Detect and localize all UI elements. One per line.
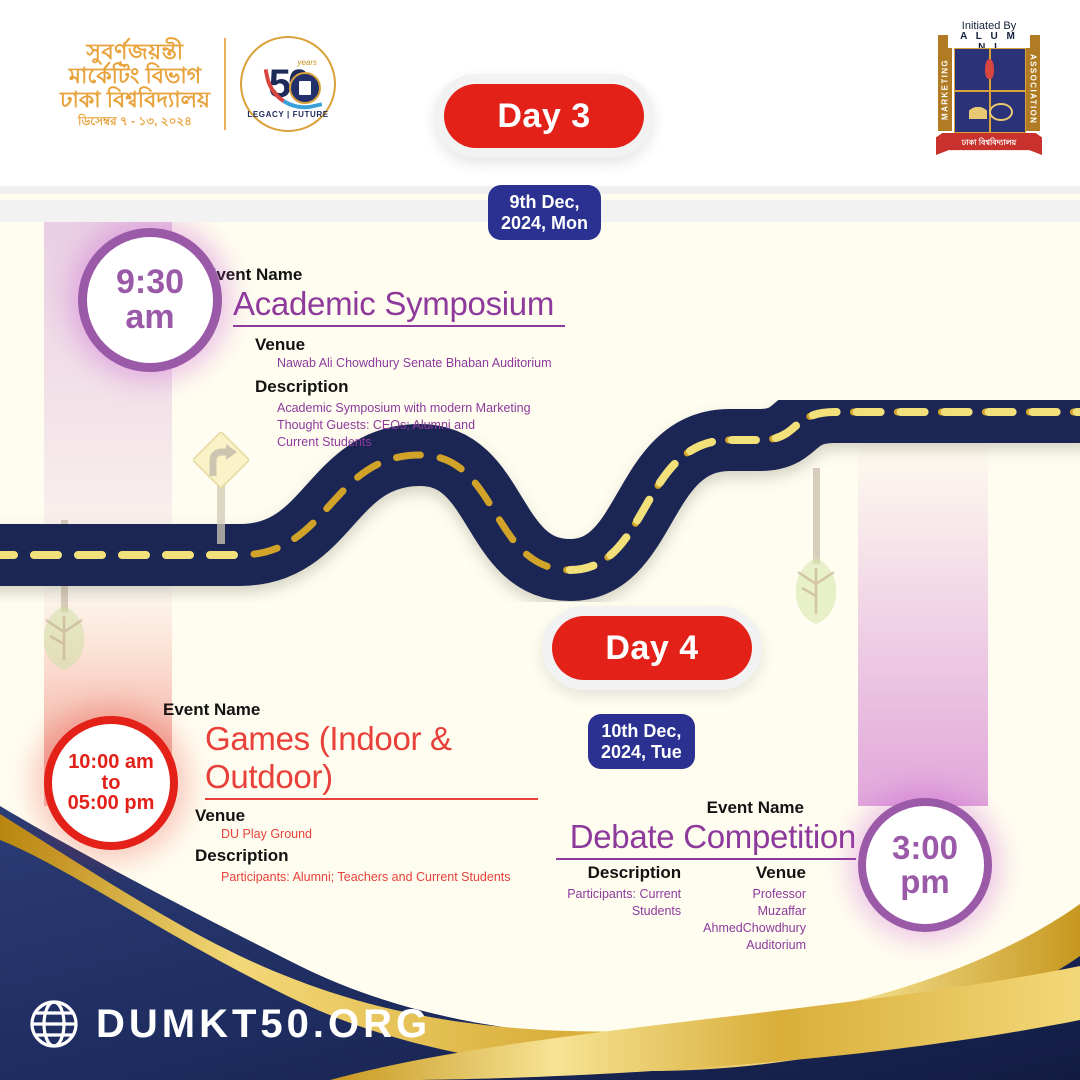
event-3-underline [556,858,856,860]
event-block-games: Event Name Games (Indoor & Outdoor) Venu… [163,700,538,886]
globe-icon [28,998,80,1050]
crest-eye-icon [989,103,1013,121]
poster-canvas: সুবর্ণজয়ন্তী মার্কেটিং বিভাগ ঢাকা বিশ্ব… [0,0,1080,1080]
crest-shield [954,48,1026,133]
crest-square-right [1030,35,1040,48]
du-seal-icon [289,72,321,104]
event-3-description-value: Participants: Current Students [556,886,681,920]
event-2-title: Games (Indoor & Outdoor) [205,720,538,798]
footer-url-text: DUMKT50.ORG [96,1002,431,1047]
event-block-debate: Event Name Debate Competition Descriptio… [556,798,856,954]
event-2-description-value: Participants: Alumni; Teachers and Curre… [163,869,538,886]
bengali-date-line: ডিসেম্বর ৭ - ১৩, ২০২৪ [78,115,192,128]
event-3-venue-group: Venue Professor MuzaffarAhmedChowdhuryAu… [703,863,856,954]
fifty-years-logo: 50 years LEGACY | FUTURE [240,36,336,132]
crest-square-left [938,35,948,48]
event-3-title: Debate Competition [556,818,856,858]
day-badge-4-label: Day 4 [552,616,752,680]
crest-flame-icon [985,59,994,79]
day-badge-4[interactable]: Day 4 [542,606,762,690]
bengali-line-3: ঢাকা বিশ্ববিদ্যালয় [60,88,210,112]
event-3-venue-value: Professor MuzaffarAhmedChowdhuryAuditori… [703,886,806,954]
event-2-underline [205,798,538,800]
event-1-description-value: Academic Symposium with modern Marketing… [205,400,565,451]
crest-ribbon-text: ঢাকা বিশ্ববিদ্যালয় [936,133,1042,155]
footer-url-block[interactable]: DUMKT50.ORG [28,998,431,1050]
event-1-title: Academic Symposium [233,285,565,325]
fifty-tagline: LEGACY | FUTURE [242,110,334,119]
crest-lotus-icon [969,101,987,119]
time-circle-event-3: 3:00pm [858,798,992,932]
event-3-description-label: Description [556,863,681,883]
bengali-line-2: মার্কেটিং বিভাগ [69,64,201,88]
crest-marketing-text: MARKETING [938,48,952,131]
event-3-name-label: Event Name [556,798,856,818]
event-1-venue-value: Nawab Ali Chowdhury Senate Bhaban Audito… [205,355,565,372]
time-circle-event-1: 9:30am [78,228,222,372]
header-left-logos: সুবর্ণজয়ন্তী মার্কেটিং বিভাগ ঢাকা বিশ্ব… [60,36,336,132]
event-3-venue-label: Venue [703,863,806,883]
bengali-jubilee-logo: সুবর্ণজয়ন্তী মার্কেটিং বিভাগ ঢাকা বিশ্ব… [60,40,210,127]
event-1-underline [233,325,565,327]
header-divider [224,38,226,130]
event-2-venue-value: DU Play Ground [163,826,538,843]
event-1-description-label: Description [205,377,565,397]
day-badge-3[interactable]: Day 3 [434,74,654,158]
date-pill-day-4: 10th Dec,2024, Tue [588,714,695,769]
event-1-name-label: Event Name [205,265,565,285]
event-block-academic-symposium: Event Name Academic Symposium Venue Nawa… [205,265,565,451]
event-1-venue-label: Venue [205,335,565,355]
crest-association-text: ASSOCIATION [1026,48,1040,131]
event-2-venue-label: Venue [163,806,538,826]
event-2-description-label: Description [163,846,538,866]
time-circle-event-2: 10:00 amto05:00 pm [44,716,178,850]
day-badge-3-label: Day 3 [444,84,644,148]
bengali-line-1: সুবর্ণজয়ন্তী [86,40,183,64]
alumni-association-crest-icon: A L U M N I MARKETING ASSOCIATION ঢাকা ব… [930,35,1048,155]
date-pill-day-3: 9th Dec,2024, Mon [488,185,601,240]
event-2-name-label: Event Name [163,700,538,720]
crest-top-bar: A L U M N I [938,35,1040,48]
header-right-crest: Initiated By A L U M N I MARKETING ASSOC… [930,20,1048,155]
event-3-description-group: Description Participants: Current Studen… [556,863,681,954]
